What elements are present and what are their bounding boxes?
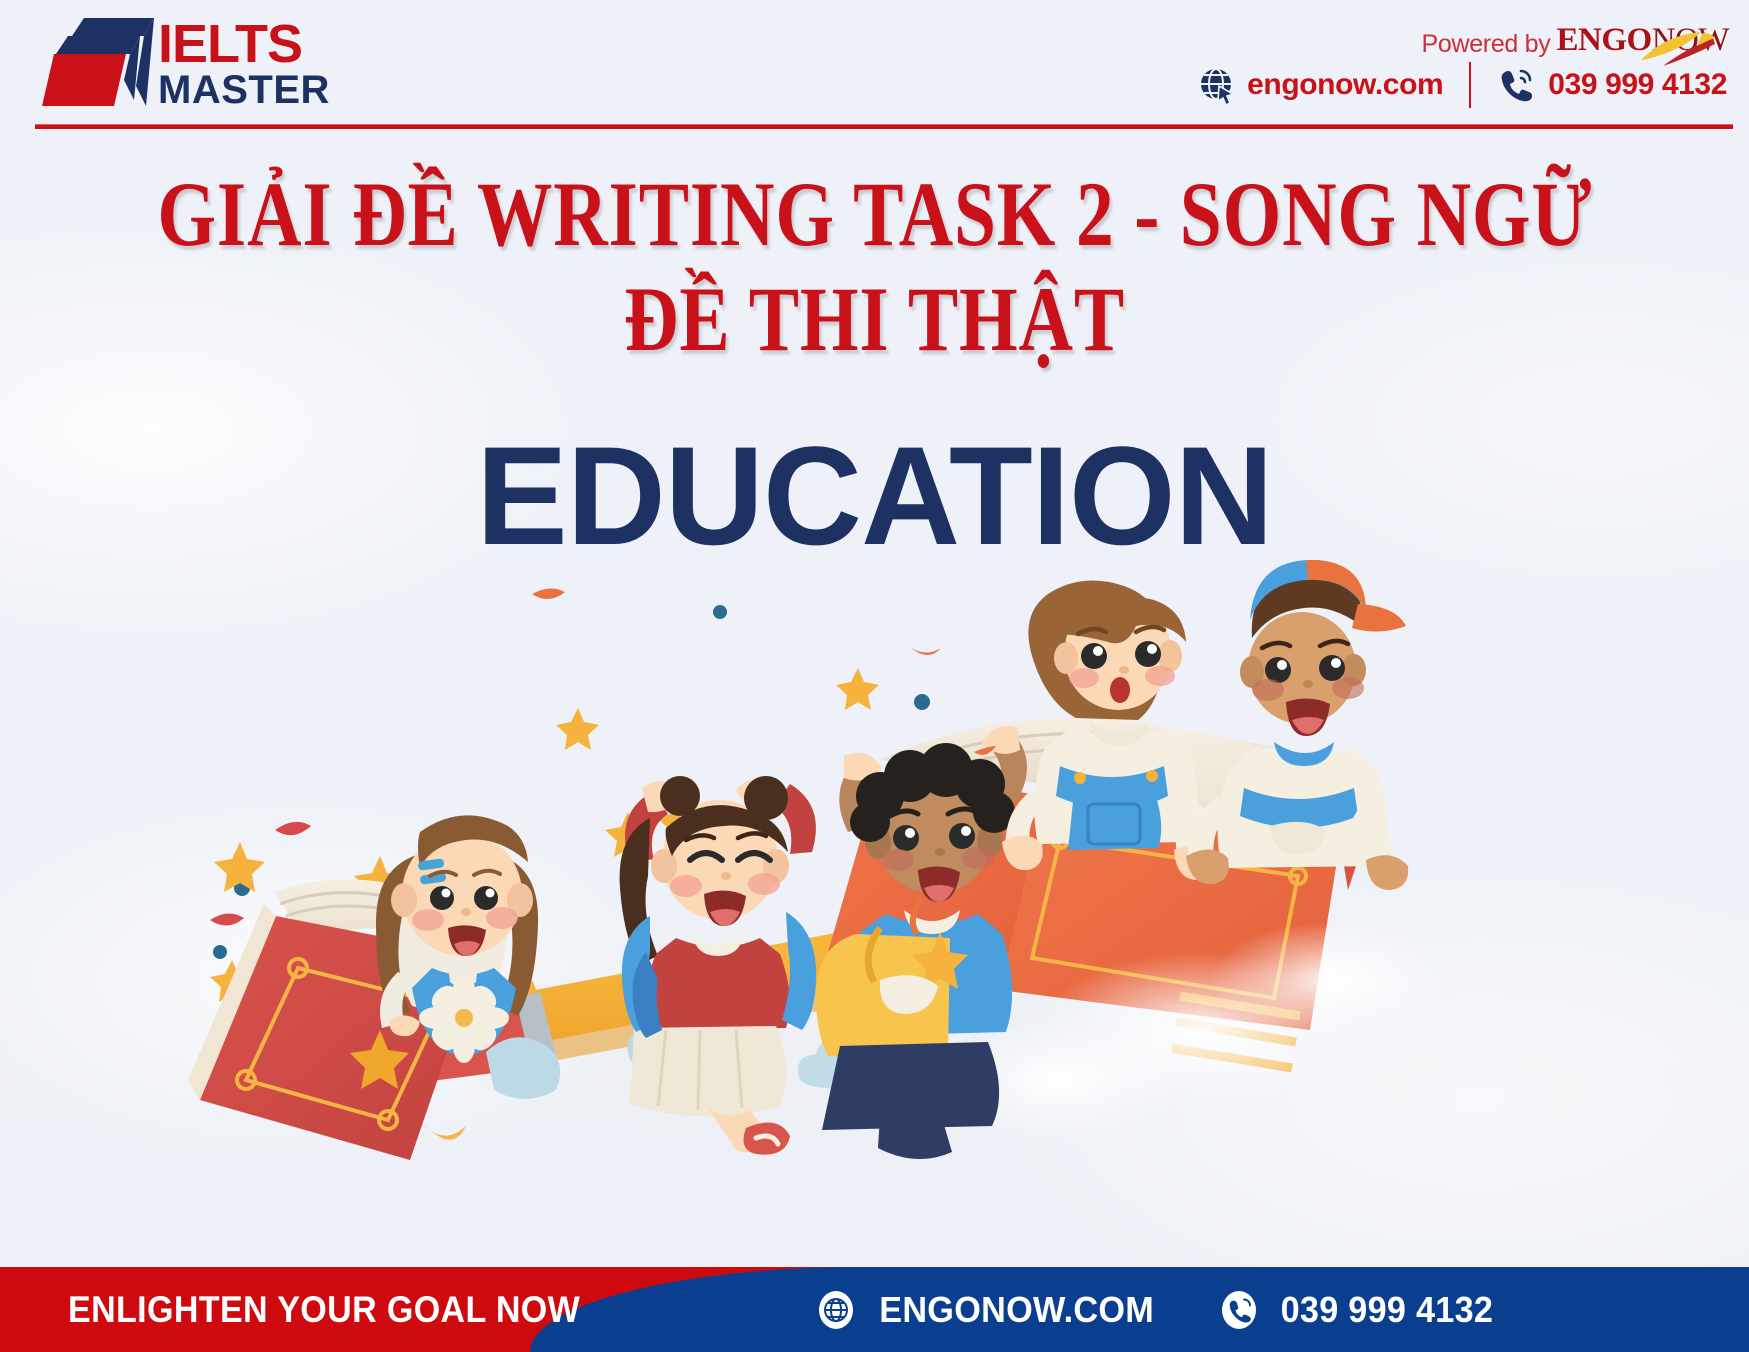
page-title: GIẢI ĐỀ WRITING TASK 2 - SONG NGỮ ĐỀ THI… xyxy=(0,165,1749,370)
page-header: IELTS MASTER Powered by ENGO NOW xyxy=(0,0,1749,128)
phone-call-icon xyxy=(1497,65,1537,105)
powered-by-engonow: Powered by ENGO NOW xyxy=(1421,22,1729,59)
header-website-label: engonow.com xyxy=(1247,68,1443,102)
child-boy-orange-cap xyxy=(1186,560,1408,890)
brand-logo[interactable]: IELTS MASTER xyxy=(36,14,330,112)
stacked-books-icon xyxy=(36,14,156,112)
child-boy-curly-hair-yellow-backpack xyxy=(816,726,1027,1159)
page-footer: ENLIGHTEN YOUR GOAL NOW ENGONOW.COM xyxy=(0,1267,1749,1352)
footer-slogan: ENLIGHTEN YOUR GOAL NOW xyxy=(68,1289,580,1331)
header-website[interactable]: engonow.com xyxy=(1198,66,1443,104)
engonow-brand-bold: ENGO xyxy=(1557,22,1652,59)
header-phone-label: 039 999 4132 xyxy=(1548,68,1727,102)
topic-heading: EDUCATION xyxy=(17,415,1731,577)
logo-line-master: MASTER xyxy=(158,71,330,109)
children-pencil-rocket-illustration xyxy=(180,560,1490,1180)
footer-website[interactable]: ENGONOW.COM xyxy=(816,1289,1161,1331)
footer-phone-label: 039 999 4132 xyxy=(1281,1289,1494,1331)
title-line-1: GIẢI ĐỀ WRITING TASK 2 - SONG NGỮ xyxy=(157,165,1591,264)
footer-website-label: ENGONOW.COM xyxy=(879,1289,1154,1331)
globe-icon xyxy=(816,1290,856,1330)
header-divider-rule xyxy=(35,124,1733,129)
title-line-2: ĐỀ THI THẬT xyxy=(157,270,1591,369)
powered-by-label: Powered by xyxy=(1421,30,1550,59)
header-contacts: engonow.com 039 999 4132 xyxy=(1198,62,1727,108)
header-contacts-divider xyxy=(1469,62,1471,108)
logo-line-ielts: IELTS xyxy=(158,19,330,71)
header-phone[interactable]: 039 999 4132 xyxy=(1497,65,1727,105)
phone-icon xyxy=(1219,1290,1259,1330)
footer-contacts: ENGONOW.COM 039 999 4132 xyxy=(816,1289,1499,1331)
poster-canvas: IELTS MASTER Powered by ENGO NOW xyxy=(0,0,1749,1352)
footer-phone[interactable]: 039 999 4132 xyxy=(1219,1289,1499,1331)
globe-cursor-icon xyxy=(1198,66,1236,104)
